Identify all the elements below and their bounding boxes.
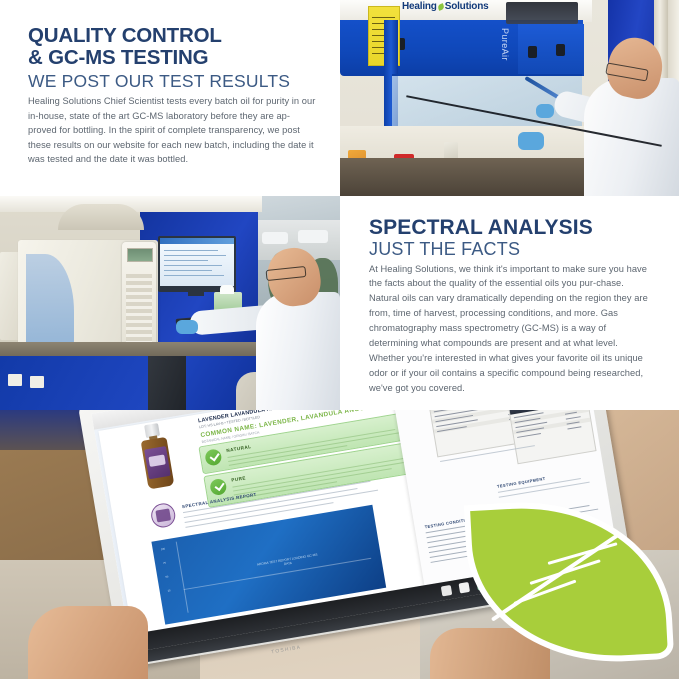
hood-knob	[528, 46, 537, 58]
healing-solutions-leaf-logo	[474, 506, 664, 658]
exhaust-duct	[58, 204, 144, 230]
hood-model-label: PureAir	[500, 28, 510, 61]
monitor-screen	[160, 238, 234, 286]
parked-car	[298, 230, 328, 243]
quality-control-subtitle: WE POST OUR TEST RESULTS	[28, 72, 316, 91]
hood-brand-logo: HealingSolutions	[402, 1, 488, 12]
page-title-line2: & GC-MS TESTING	[28, 48, 316, 69]
essential-oil-bottle	[138, 422, 174, 489]
bottle-label	[144, 446, 171, 479]
hood-brand-word2: Solutions	[445, 1, 489, 12]
nitrile-glove	[518, 132, 544, 150]
marketing-infographic-page: HealingSolutions PureAir	[0, 0, 679, 679]
spectral-analysis-subtitle: JUST THE FACTS	[369, 240, 655, 259]
tablet-report-photo: LAVENDER LAVANDULA ANGUSTIFOLIA FROM BUL…	[0, 410, 679, 679]
spectral-analysis-text-panel: SPECTRAL ANALYSIS JUST THE FACTS At Heal…	[340, 196, 679, 410]
nitrile-glove	[536, 104, 554, 118]
spectral-analysis-body: At Healing Solutions, we think it's impo…	[369, 262, 655, 396]
badge-label: NATURAL	[226, 444, 252, 453]
hood-knob	[556, 44, 565, 56]
hood-glass-window	[392, 74, 582, 128]
taskbar-app-icon[interactable]	[459, 582, 471, 594]
desktop-tower	[148, 356, 186, 410]
hand-holding-tablet	[28, 606, 148, 679]
chart-overlay-text: AROMA TEST REPORT LOADING GC-MS DATA	[252, 552, 322, 572]
taskbar-app-icon[interactable]	[441, 585, 453, 597]
leaf-icon	[437, 3, 445, 11]
quality-control-body: Healing Solutions Chief Scientist tests …	[28, 94, 316, 167]
software-title-bar	[160, 238, 234, 244]
gcms-instrument-photo	[0, 196, 340, 410]
page-title-line1: QUALITY CONTROL	[28, 26, 316, 47]
parked-car	[262, 232, 288, 244]
instrument-lcd-display	[127, 248, 153, 262]
compound-table-right	[508, 410, 596, 464]
tablet-brand-label: TOSHIBA	[271, 645, 302, 656]
check-circle-icon	[209, 478, 227, 496]
verified-seal-icon	[149, 502, 177, 530]
spectral-analysis-title: SPECTRAL ANALYSIS	[369, 218, 655, 239]
hood-benchtop	[340, 158, 592, 196]
power-outlet	[8, 374, 22, 386]
hood-brand-word1: Healing	[402, 1, 437, 12]
badge-label: PURE	[231, 475, 246, 482]
power-outlet	[30, 376, 44, 388]
monitor-stand	[188, 286, 204, 296]
hood-sash-display	[506, 2, 578, 24]
instrument-keypad[interactable]	[126, 274, 152, 348]
quality-control-text-panel: QUALITY CONTROL & GC-MS TESTING WE POST …	[0, 0, 340, 196]
fume-hood-photo: HealingSolutions PureAir	[340, 0, 679, 196]
nitrile-glove	[176, 320, 198, 334]
check-circle-icon	[204, 448, 222, 466]
lab-coat	[256, 292, 340, 410]
